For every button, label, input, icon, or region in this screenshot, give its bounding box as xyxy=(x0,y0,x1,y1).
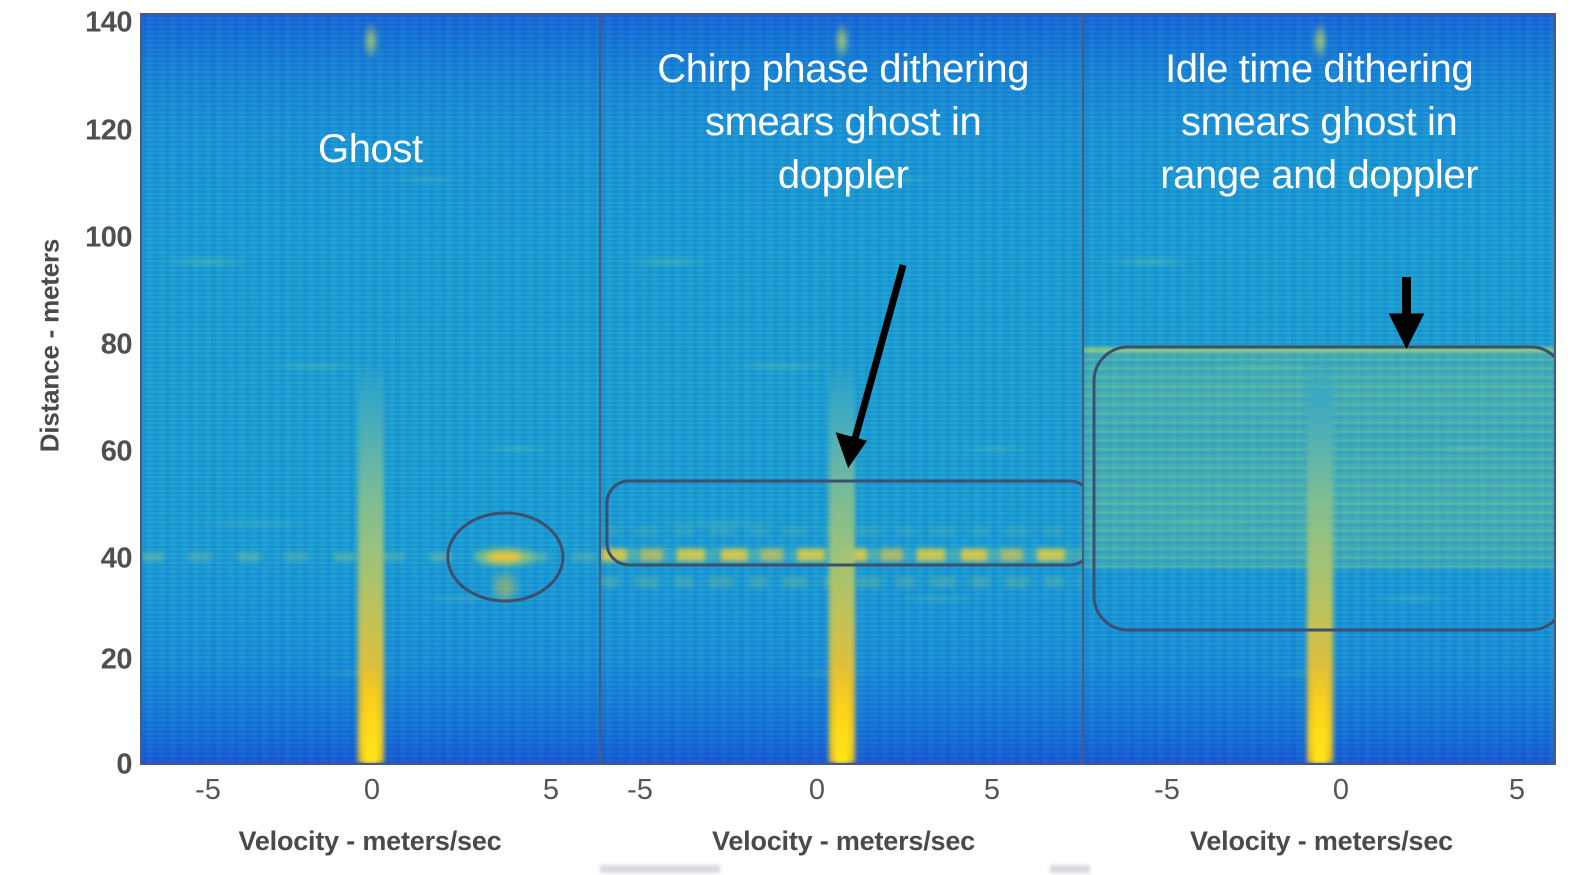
y-tick-100: 100 xyxy=(54,222,132,255)
x-tick-0-p2: 0 xyxy=(809,774,825,807)
zero-doppler-target-core xyxy=(835,666,849,763)
ghost-peak xyxy=(473,547,537,567)
panel-annotation-chirp-phase-dithering: Chirp phase dithering smears ghost in do… xyxy=(601,43,1085,203)
x-axis-title-p2: Velocity - meters/sec xyxy=(602,826,1085,857)
x-axis-panel-3: -5 0 5 Velocity - meters/sec xyxy=(1087,770,1556,870)
bottom-edge-artifact-left xyxy=(600,865,720,873)
range-doppler-figure: Distance - meters 140 120 100 80 60 40 2… xyxy=(0,0,1575,875)
x-axis-title-p1: Velocity - meters/sec xyxy=(140,826,600,857)
zero-doppler-target-top xyxy=(363,22,379,59)
x-tick-neg5-p2: -5 xyxy=(627,774,653,807)
y-tick-0: 0 xyxy=(54,749,132,782)
y-tick-40: 40 xyxy=(54,543,132,576)
y-tick-20: 20 xyxy=(54,644,132,677)
ghost-peak-tail xyxy=(490,570,520,604)
x-axis-title-p3: Velocity - meters/sec xyxy=(1087,826,1556,857)
x-tick-neg5-p1: -5 xyxy=(195,774,221,807)
panel-annotation-ghost: Ghost xyxy=(142,123,599,176)
x-axis-panel-2: -5 0 5 Velocity - meters/sec xyxy=(602,770,1085,870)
y-axis-ticks: 140 120 100 80 60 40 20 0 xyxy=(40,0,132,875)
panel-baseline[interactable]: Ghost xyxy=(142,15,601,763)
x-tick-0-p1: 0 xyxy=(364,774,380,807)
panel-chirp-phase-dithering[interactable]: Chirp phase dithering smears ghost in do… xyxy=(601,15,1085,763)
y-tick-60: 60 xyxy=(54,436,132,469)
zero-doppler-target-core xyxy=(364,666,378,763)
bottom-edge-artifact-right xyxy=(1050,865,1090,873)
x-tick-neg5-p3: -5 xyxy=(1154,774,1180,807)
y-tick-140: 140 xyxy=(54,7,132,40)
panel-annotation-idle-time-dithering: Idle time dithering smears ghost in rang… xyxy=(1084,43,1554,203)
y-tick-80: 80 xyxy=(54,329,132,362)
x-tick-5-p3: 5 xyxy=(1509,774,1525,807)
x-tick-0-p3: 0 xyxy=(1333,774,1349,807)
x-axis-panel-1: -5 0 5 Velocity - meters/sec xyxy=(140,770,600,870)
x-tick-5-p1: 5 xyxy=(543,774,559,807)
y-tick-120: 120 xyxy=(54,115,132,148)
x-tick-5-p2: 5 xyxy=(984,774,1000,807)
heatmap-panel-grid: Ghost Chirp phase dithering xyxy=(140,13,1556,765)
zero-doppler-target-core xyxy=(1313,666,1327,763)
panel-idle-time-dithering[interactable]: Idle time dithering smears ghost in rang… xyxy=(1084,15,1554,763)
